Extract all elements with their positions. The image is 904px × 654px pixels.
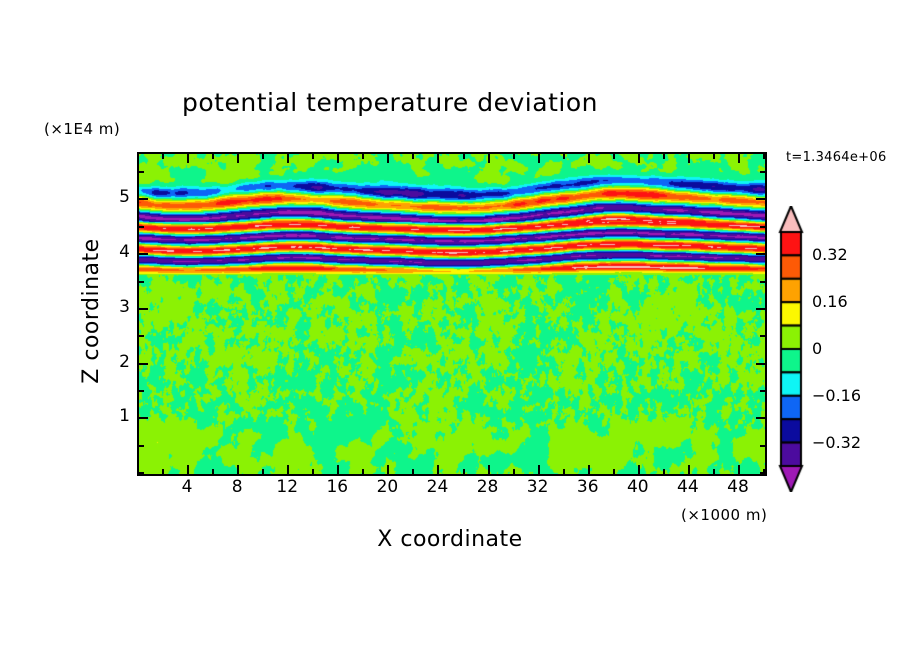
y-tick-right bbox=[760, 226, 765, 228]
x-tick bbox=[337, 465, 339, 474]
x-tick bbox=[212, 469, 214, 474]
x-tick bbox=[688, 465, 690, 474]
x-tick-top bbox=[437, 154, 439, 163]
x-tick-top bbox=[738, 154, 740, 163]
x-tick bbox=[237, 465, 239, 474]
x-tick-label: 36 bbox=[568, 477, 608, 497]
x-tick-top bbox=[237, 154, 239, 163]
y-tick bbox=[139, 363, 148, 365]
x-tick bbox=[638, 465, 640, 474]
y-tick bbox=[139, 198, 148, 200]
x-tick-top bbox=[563, 154, 565, 159]
contour-plot-area bbox=[137, 152, 767, 476]
colorbar-tick-label: 0.32 bbox=[812, 245, 848, 264]
x-tick-label: 44 bbox=[668, 477, 708, 497]
x-tick bbox=[713, 469, 715, 474]
x-tick-top bbox=[262, 154, 264, 159]
y-axis-unit-label: (×1E4 m) bbox=[44, 120, 120, 138]
x-tick bbox=[738, 465, 740, 474]
x-tick bbox=[513, 469, 515, 474]
y-tick-right bbox=[760, 390, 765, 392]
x-tick bbox=[563, 469, 565, 474]
y-tick-right bbox=[756, 363, 765, 365]
x-tick bbox=[162, 469, 164, 474]
x-axis-title: X coordinate bbox=[137, 527, 763, 552]
x-tick bbox=[538, 465, 540, 474]
x-tick-top bbox=[588, 154, 590, 163]
x-tick bbox=[463, 469, 465, 474]
x-tick bbox=[187, 465, 189, 474]
x-tick-label: 20 bbox=[367, 477, 407, 497]
x-tick-top bbox=[638, 154, 640, 163]
colorbar-tick-label: 0.16 bbox=[812, 292, 848, 311]
y-tick bbox=[139, 335, 144, 337]
y-tick bbox=[139, 171, 144, 173]
x-tick-top bbox=[162, 154, 164, 159]
x-tick bbox=[312, 469, 314, 474]
x-tick bbox=[588, 465, 590, 474]
y-tick-right bbox=[756, 198, 765, 200]
x-tick bbox=[412, 469, 414, 474]
x-tick-top bbox=[538, 154, 540, 163]
y-tick bbox=[139, 281, 144, 283]
y-tick-right bbox=[756, 253, 765, 255]
x-tick bbox=[437, 465, 439, 474]
figure-canvas: potential temperature deviation (×1E4 m)… bbox=[0, 0, 904, 654]
y-tick-label: 1 bbox=[100, 406, 130, 426]
x-tick-top bbox=[488, 154, 490, 163]
page-title: potential temperature deviation bbox=[0, 88, 780, 117]
x-tick-label: 28 bbox=[468, 477, 508, 497]
x-tick-top bbox=[688, 154, 690, 163]
contour-field bbox=[139, 154, 765, 474]
x-tick-label: 16 bbox=[317, 477, 357, 497]
colorbar-tick-label: 0 bbox=[812, 339, 822, 358]
x-tick bbox=[262, 469, 264, 474]
y-tick-right bbox=[760, 281, 765, 283]
y-tick bbox=[139, 390, 144, 392]
x-tick-top bbox=[663, 154, 665, 159]
x-axis-unit-label: (×1000 m) bbox=[681, 506, 767, 524]
y-axis-title: Z coordinate bbox=[79, 201, 104, 421]
y-tick bbox=[139, 226, 144, 228]
y-tick bbox=[139, 253, 148, 255]
x-tick-top bbox=[362, 154, 364, 159]
y-tick-right bbox=[760, 445, 765, 447]
x-tick-top bbox=[287, 154, 289, 163]
x-tick-top bbox=[763, 154, 765, 159]
y-tick-label: 4 bbox=[100, 242, 130, 262]
colorbar bbox=[778, 206, 804, 492]
x-tick-label: 12 bbox=[267, 477, 307, 497]
y-tick-right bbox=[756, 308, 765, 310]
x-tick bbox=[362, 469, 364, 474]
y-tick bbox=[139, 445, 144, 447]
y-tick-label: 2 bbox=[100, 352, 130, 372]
y-tick bbox=[139, 308, 148, 310]
x-tick bbox=[613, 469, 615, 474]
x-tick bbox=[287, 465, 289, 474]
x-tick-top bbox=[613, 154, 615, 159]
x-tick-top bbox=[212, 154, 214, 159]
time-annotation: t=1.3464e+06 bbox=[786, 150, 887, 165]
x-tick bbox=[387, 465, 389, 474]
colorbar-tick-label: −0.32 bbox=[812, 433, 861, 452]
x-tick-label: 8 bbox=[217, 477, 257, 497]
y-tick-right bbox=[760, 335, 765, 337]
x-tick-top bbox=[412, 154, 414, 159]
y-tick-right bbox=[760, 171, 765, 173]
x-tick-label: 40 bbox=[618, 477, 658, 497]
x-tick-top bbox=[312, 154, 314, 159]
y-tick bbox=[139, 472, 144, 474]
y-tick bbox=[139, 417, 148, 419]
x-tick-top bbox=[713, 154, 715, 159]
y-tick-right bbox=[756, 417, 765, 419]
x-tick-top bbox=[337, 154, 339, 163]
x-tick-top bbox=[387, 154, 389, 163]
y-tick-right bbox=[760, 472, 765, 474]
x-tick bbox=[663, 469, 665, 474]
x-tick-top bbox=[513, 154, 515, 159]
x-tick-label: 48 bbox=[718, 477, 758, 497]
x-tick-label: 24 bbox=[417, 477, 457, 497]
x-tick-top bbox=[463, 154, 465, 159]
x-tick-top bbox=[137, 154, 139, 159]
y-tick-label: 5 bbox=[100, 187, 130, 207]
x-tick-top bbox=[187, 154, 189, 163]
x-tick bbox=[488, 465, 490, 474]
colorbar-tick-label: −0.16 bbox=[812, 386, 861, 405]
x-tick-label: 32 bbox=[518, 477, 558, 497]
x-tick-label: 4 bbox=[167, 477, 207, 497]
y-tick-label: 3 bbox=[100, 297, 130, 317]
colorbar-gradient bbox=[778, 206, 804, 492]
